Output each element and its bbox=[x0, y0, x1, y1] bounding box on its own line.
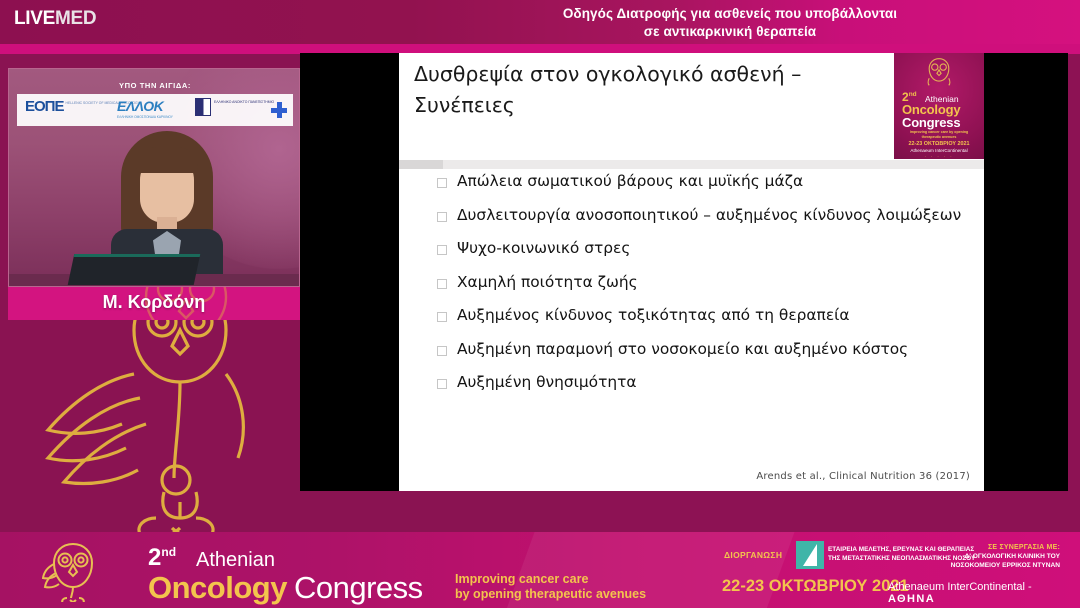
ellok-subtitle: ΕΛΛΗΝΙΚΗ ΟΜΟΣΠΟΝΔΙΑ ΚΑΡΚΙΝΟΥ bbox=[117, 115, 173, 119]
list-item: Αυξημένος κίνδυνος τοξικότητας από τη θε… bbox=[437, 305, 962, 326]
slide-logo-tagline: Improving cancer care by opening therape… bbox=[902, 130, 976, 140]
footer-oncology: Oncology bbox=[148, 570, 287, 606]
slide-divider-tab bbox=[399, 160, 443, 169]
list-item-text: Δυσλειτουργία ανοσοποιητικού – αυξημένος… bbox=[457, 205, 961, 226]
venue-city: ΑΘΗΝΑ bbox=[888, 593, 935, 605]
cooperation-label: ΣΕ ΣΥΝΕΡΓΑΣΙΑ ΜΕ: bbox=[840, 544, 1060, 551]
cooperation-line2: ΝΟΣΟΚΟΜΕΙΟΥ ΕΡΡΙΚΟΣ ΝΤΥΝΑΝ bbox=[810, 562, 1060, 571]
bullet-square-icon bbox=[437, 178, 447, 188]
book-icon bbox=[195, 98, 211, 116]
speaker-name: Μ. Κορδόνη bbox=[8, 292, 300, 313]
session-title-line2: σε αντικαρκινική θεραπεία bbox=[430, 23, 1030, 41]
list-item-text: Αυξημένη θνησιμότητα bbox=[457, 372, 637, 393]
top-header-bar: LIVEMED Οδηγός Διατροφής για ασθενείς πο… bbox=[0, 0, 1080, 44]
footer-congress: Congress bbox=[294, 570, 423, 606]
medical-cross-logo bbox=[271, 102, 287, 118]
bullet-square-icon bbox=[437, 245, 447, 255]
list-item-text: Αυξημένη παραμονή στο νοσοκομείο και αυξ… bbox=[457, 339, 908, 360]
bullet-square-icon bbox=[437, 212, 447, 222]
speaker-hair-front bbox=[136, 147, 198, 173]
bullet-square-icon bbox=[437, 379, 447, 389]
video-feed[interactable]: ΥΠΟ ΤΗΝ ΑΙΓΙΔΑ: ΕΟΠΕHELLENIC SOCIETY OF … bbox=[8, 68, 300, 287]
cooperation-name: Δ' ΟΓΚΟΛΟΓΙΚΗ ΚΛΙΝΙΚΗ ΤΟΥ ΝΟΣΟΚΟΜΕΙΟΥ ΕΡ… bbox=[810, 553, 1060, 570]
footer-tagline-line2: by opening therapeutic avenues bbox=[455, 587, 675, 602]
footer-banner: 2nd Athenian Oncology Congress Improving… bbox=[0, 532, 1080, 608]
slide-title: Δυσθρεψία στον ογκολογικό ασθενή – Συνέπ… bbox=[414, 59, 869, 121]
footer-tagline: Improving cancer care by opening therape… bbox=[455, 572, 675, 602]
congress-venue: Athenaeum InterContinental - ΑΘΗΝΑ bbox=[888, 581, 1080, 605]
session-title: Οδηγός Διατροφής για ασθενείς που υποβάλ… bbox=[430, 5, 1030, 41]
owl-logo-icon bbox=[42, 540, 104, 602]
list-item-text: Χαμηλή ποιότητα ζωής bbox=[457, 272, 638, 293]
livemed-med: MED bbox=[55, 8, 96, 29]
list-item-text: Ψυχο-κοινωνικό στρες bbox=[457, 238, 630, 259]
list-item-text: Αυξημένος κίνδυνος τοξικότητας από τη θε… bbox=[457, 305, 850, 326]
venue-name: Athenaeum InterContinental - bbox=[888, 581, 1032, 593]
bullet-square-icon bbox=[437, 312, 447, 322]
list-item: Ψυχο-κοινωνικό στρες bbox=[437, 238, 962, 259]
bullet-square-icon bbox=[437, 346, 447, 356]
ellok-logo: ΕΛΛΟΚ ΕΛΛΗΝΙΚΗ ΟΜΟΣΠΟΝΔΙΑ ΚΑΡΚΙΝΟΥ bbox=[117, 98, 173, 119]
livemed-live: LIVE bbox=[14, 8, 55, 29]
slide-logo-venue: Athenaeum InterContinental bbox=[900, 148, 978, 153]
eope-abbr: ΕΟΠΕ bbox=[25, 98, 64, 115]
session-title-line1: Οδηγός Διατροφής για ασθενείς που υποβάλ… bbox=[430, 5, 1030, 23]
owl-icon bbox=[925, 57, 953, 87]
list-item-text: Απώλεια σωματικού βάρους και μυϊκής μάζα bbox=[457, 171, 803, 192]
eap-logo: ΕΛΛΗΝΙΚΟ ΑΝΟΙΚΤΟ ΠΑΝΕΠΙΣΤΗΜΙΟ bbox=[195, 98, 274, 116]
list-item: Δυσλειτουργία ανοσοποιητικού – αυξημένος… bbox=[437, 205, 962, 226]
organizer-label: ΔΙΟΡΓΑΝΩΣΗ bbox=[724, 550, 782, 560]
list-item: Απώλεια σωματικού βάρους και μυϊκής μάζα bbox=[437, 171, 962, 192]
bullet-square-icon bbox=[437, 279, 447, 289]
slide-logo-dots: · · · · · bbox=[900, 154, 978, 159]
speaker-video-panel[interactable]: ΥΠΟ ΤΗΝ ΑΙΓΙΔΑ: ΕΟΠΕHELLENIC SOCIETY OF … bbox=[8, 68, 300, 320]
slide-divider bbox=[399, 160, 984, 169]
list-item: Χαμηλή ποιότητα ζωής bbox=[437, 272, 962, 293]
speaker-name-bar: Μ. Κορδόνη bbox=[8, 287, 300, 320]
cross-icon bbox=[271, 102, 287, 118]
aegis-label: ΥΠΟ ΤΗΝ ΑΙΓΙΔΑ: bbox=[9, 81, 300, 90]
slide-logo-congress: Congress bbox=[902, 115, 960, 130]
slide-congress-logo: 2nd Athenian Oncology Congress Improving… bbox=[894, 53, 984, 159]
slide-bullet-list: Απώλεια σωματικού βάρους και μυϊκής μάζα… bbox=[437, 171, 962, 406]
footer-athenian: Athenian bbox=[196, 549, 275, 572]
slide-letterbox: Δυσθρεψία στον ογκολογικό ασθενή – Συνέπ… bbox=[300, 53, 1068, 491]
list-item: Αυξημένη θνησιμότητα bbox=[437, 372, 962, 393]
broadcast-stage: LIVEMED Οδηγός Διατροφής για ασθενείς πο… bbox=[0, 0, 1080, 608]
ellok-abbr: ΕΛΛΟΚ bbox=[117, 98, 173, 114]
footer-ordinal: 2nd bbox=[148, 544, 176, 572]
livemed-logo: LIVEMED bbox=[14, 8, 96, 30]
slide-logo-date: 22-23 ΟΚΤΩΒΡΙΟΥ 2021 bbox=[900, 141, 978, 147]
slide-citation: Arends et al., Clinical Nutrition 36 (20… bbox=[756, 471, 970, 482]
congress-date: 22-23 ΟΚΤΩΒΡΙΟΥ 2021 bbox=[722, 577, 909, 596]
list-item: Αυξημένη παραμονή στο νοσοκομείο και αυξ… bbox=[437, 339, 962, 360]
footer-tagline-line1: Improving cancer care bbox=[455, 572, 675, 587]
laptop bbox=[68, 254, 201, 285]
presentation-slide[interactable]: Δυσθρεψία στον ογκολογικό ασθενή – Συνέπ… bbox=[399, 53, 984, 491]
eap-subtitle: ΕΛΛΗΝΙΚΟ ΑΝΟΙΚΤΟ ΠΑΝΕΠΙΣΤΗΜΙΟ bbox=[214, 100, 274, 104]
sponsor-logo-strip: ΕΟΠΕHELLENIC SOCIETY OF MEDICAL ONCOLOGY… bbox=[17, 94, 293, 126]
cooperation-line1: Δ' ΟΓΚΟΛΟΓΙΚΗ ΚΛΙΝΙΚΗ ΤΟΥ bbox=[810, 553, 1060, 562]
